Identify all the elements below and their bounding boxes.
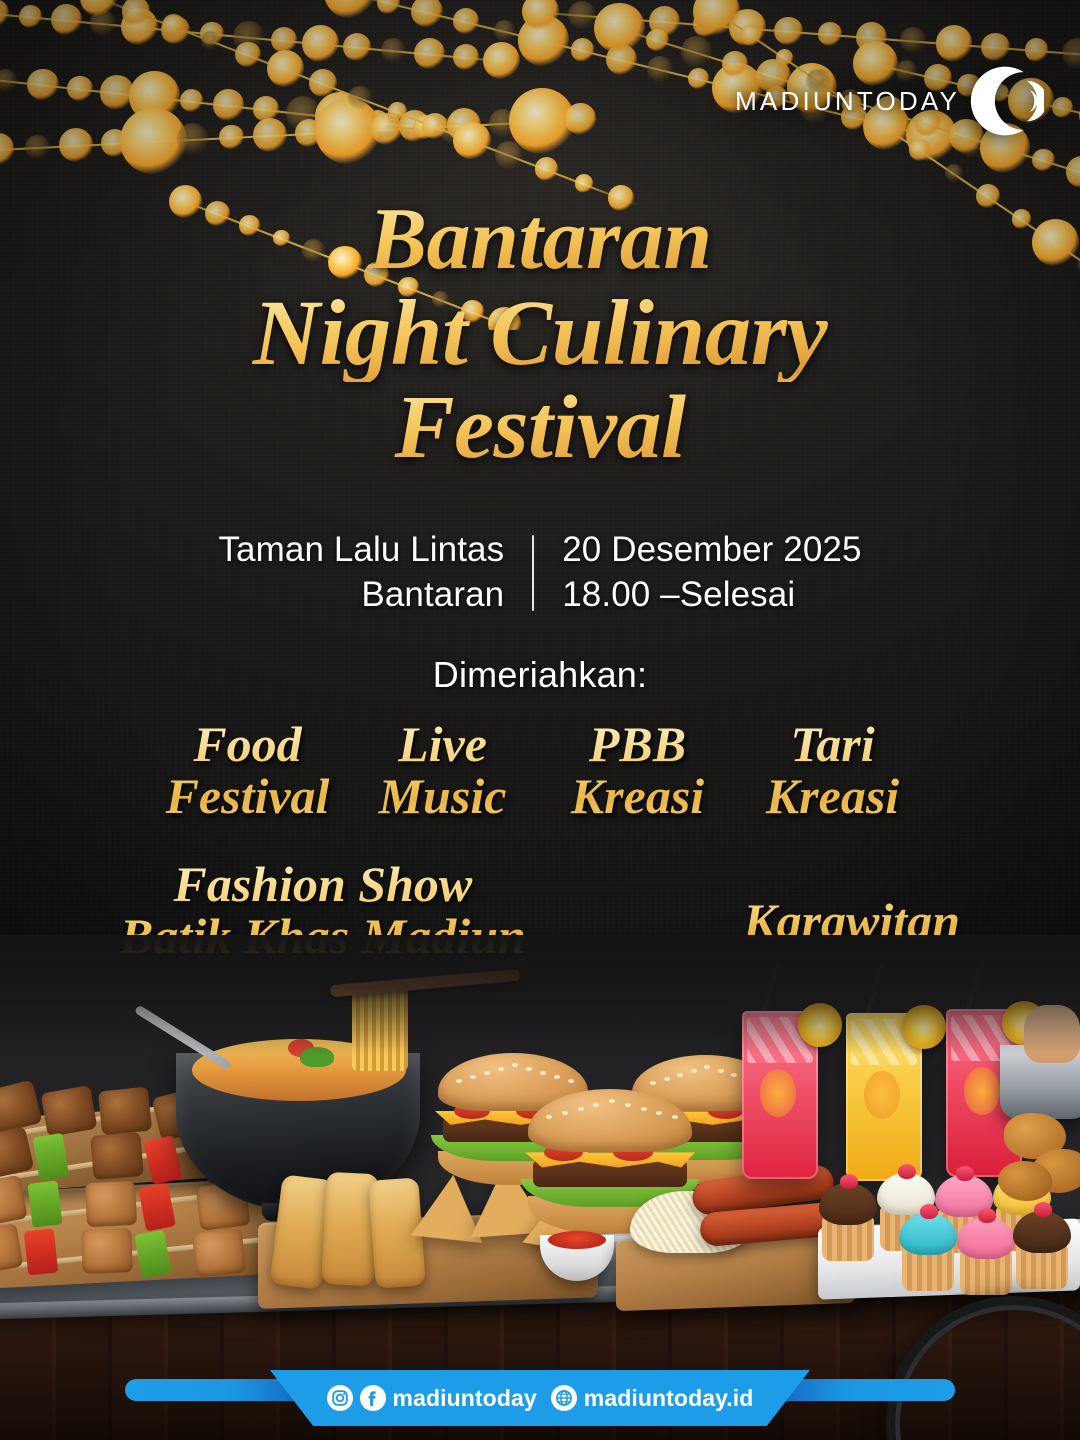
chocolate-cupcake (1013, 1211, 1071, 1253)
footer-social-bar: madiuntoday madiuntoday.id (0, 1370, 1080, 1440)
instagram-icon[interactable] (327, 1385, 353, 1411)
lineup-item-fashion-show: Fashion Show Batik Khas Madiun (120, 858, 526, 962)
drink-fruit-slice (864, 1071, 900, 1119)
burger-sesame-seed (677, 1073, 683, 1077)
datetime-block: 20 Desember 2025 18.00 –Selesai (534, 528, 861, 618)
title-line-3: Festival (0, 382, 1080, 475)
lineup-item-food-festival: Food Festival (150, 718, 345, 822)
globe-icon[interactable] (551, 1385, 577, 1411)
burger-sesame-seed (718, 1069, 724, 1073)
facebook-icon[interactable] (360, 1385, 386, 1411)
lineup-item-line-2: Batik Khas Madiun (120, 910, 526, 962)
swoosh-crescent-icon (966, 62, 1044, 140)
lemon-slice-garnish (902, 1005, 946, 1049)
skewer-meat (90, 1132, 144, 1180)
venue-line-2: Bantaran (218, 573, 504, 618)
lineup-item-line-1: Live (345, 718, 540, 770)
food-spread-photo (0, 935, 1080, 1440)
lineup-item-line-1: Tari (735, 718, 930, 770)
burger-sesame-seed (691, 1069, 697, 1073)
skewer-meat (81, 1228, 133, 1274)
burger-sesame-seed (568, 1079, 574, 1083)
cupcake-topping (840, 1174, 858, 1189)
event-date: 20 Desember 2025 (562, 528, 861, 573)
lineup-section: Dimeriahkan: Food Festival Live Music PB… (0, 654, 1080, 962)
event-info-row: Taman Lalu Lintas Bantaran 20 Desember 2… (0, 528, 1080, 618)
burger-sesame-seed (456, 1079, 462, 1083)
venue-block: Taman Lalu Lintas Bantaran (218, 528, 532, 618)
skewer-meat (98, 1086, 152, 1135)
website-url[interactable]: madiuntoday.id (584, 1387, 754, 1410)
cupcake-topping (898, 1164, 916, 1179)
info-divider (532, 535, 534, 611)
footer-banner: madiuntoday madiuntoday.id (270, 1370, 810, 1426)
title-line-1: Bantaran (0, 195, 1080, 286)
burger-sesame-seed (554, 1075, 560, 1079)
lineup-item-line-2: Music (345, 770, 540, 822)
fried-chicken-piece (998, 1161, 1052, 1201)
burger-sesame-seed (650, 1081, 656, 1085)
lineup-item-line-1: Fashion Show (120, 858, 526, 910)
lineup-item-live-music: Live Music (345, 718, 540, 822)
lineup-heading: Dimeriahkan: (0, 654, 1080, 696)
cupcake-topping (1034, 1202, 1052, 1217)
event-time: 18.00 –Selesai (562, 573, 861, 618)
drink-fruit-slice (760, 1069, 796, 1117)
burger-sesame-seed (578, 1107, 584, 1111)
burger-sesame-seed (562, 1111, 568, 1115)
burger-sesame-seed (704, 1065, 710, 1069)
pink-cupcake (957, 1217, 1015, 1259)
noodle-garnish-herb (300, 1047, 334, 1067)
lineup-item-line-2: Festival (150, 770, 345, 822)
lineup-item-line-1: PBB (540, 718, 735, 770)
chocolate-cupcake (819, 1183, 877, 1225)
lineup-item-pbb-kreasi: PBB Kreasi (540, 718, 735, 822)
burger-sesame-seed (484, 1071, 490, 1075)
lemon-slice-garnish (798, 1003, 842, 1047)
burger-sesame-seed (664, 1077, 670, 1081)
lineup-row-primary: Food Festival Live Music PBB Kreasi Tari… (0, 718, 1080, 822)
skewer-meat (192, 1229, 246, 1278)
logo-wordmark: MADIUNTODAY (735, 88, 960, 114)
cupcake-topping (978, 1208, 996, 1223)
lineup-item-tari-kreasi: Tari Kreasi (735, 718, 930, 822)
ketchup-sauce (548, 1231, 606, 1249)
burger-sesame-seed (731, 1073, 737, 1077)
skewer-pepper (24, 1229, 58, 1276)
poster-canvas: MADIUNTODAY Bantaran Night Culinary Fest… (0, 0, 1080, 1440)
burger-sesame-seed (625, 1103, 631, 1107)
cupcake-topping (956, 1166, 974, 1181)
brand-logo: MADIUNTODAY (735, 62, 1044, 140)
blue-cupcake (899, 1213, 957, 1255)
burger-sesame-seed (641, 1107, 647, 1111)
burger-sesame-seed (498, 1067, 504, 1071)
skewer-pepper (27, 1181, 62, 1228)
burger-sesame-seed (470, 1075, 476, 1079)
social-handle[interactable]: madiuntoday (393, 1387, 537, 1410)
burger-sesame-seed (540, 1071, 546, 1075)
burger-sesame-seed (546, 1115, 552, 1119)
burger-sesame-seed (609, 1099, 615, 1103)
lineup-row-secondary: Fashion Show Batik Khas Madiun Karawitan (0, 858, 1080, 962)
venue-line-1: Taman Lalu Lintas (218, 528, 504, 573)
chef-hand (1024, 1005, 1080, 1063)
burger-sesame-seed (512, 1063, 518, 1067)
lineup-item-line-2: Kreasi (540, 770, 735, 822)
title-line-2: Night Culinary (0, 286, 1080, 382)
social-group[interactable]: madiuntoday (327, 1385, 537, 1411)
cupcake-topping (920, 1204, 938, 1219)
burger-sesame-seed (526, 1067, 532, 1071)
noodle-lift-strands (352, 983, 408, 1071)
lineup-item-line-1: Food (150, 718, 345, 770)
lineup-item-karawitan: Karawitan (743, 873, 960, 947)
website-group[interactable]: madiuntoday.id (551, 1385, 754, 1411)
poster-title: Bantaran Night Culinary Festival (0, 195, 1080, 474)
burger-sesame-seed (672, 1115, 678, 1119)
drink-fruit-slice (964, 1067, 1000, 1115)
skewer-meat (41, 1085, 98, 1137)
lineup-item-line-2: Kreasi (735, 770, 930, 822)
skewer-meat (85, 1180, 137, 1227)
